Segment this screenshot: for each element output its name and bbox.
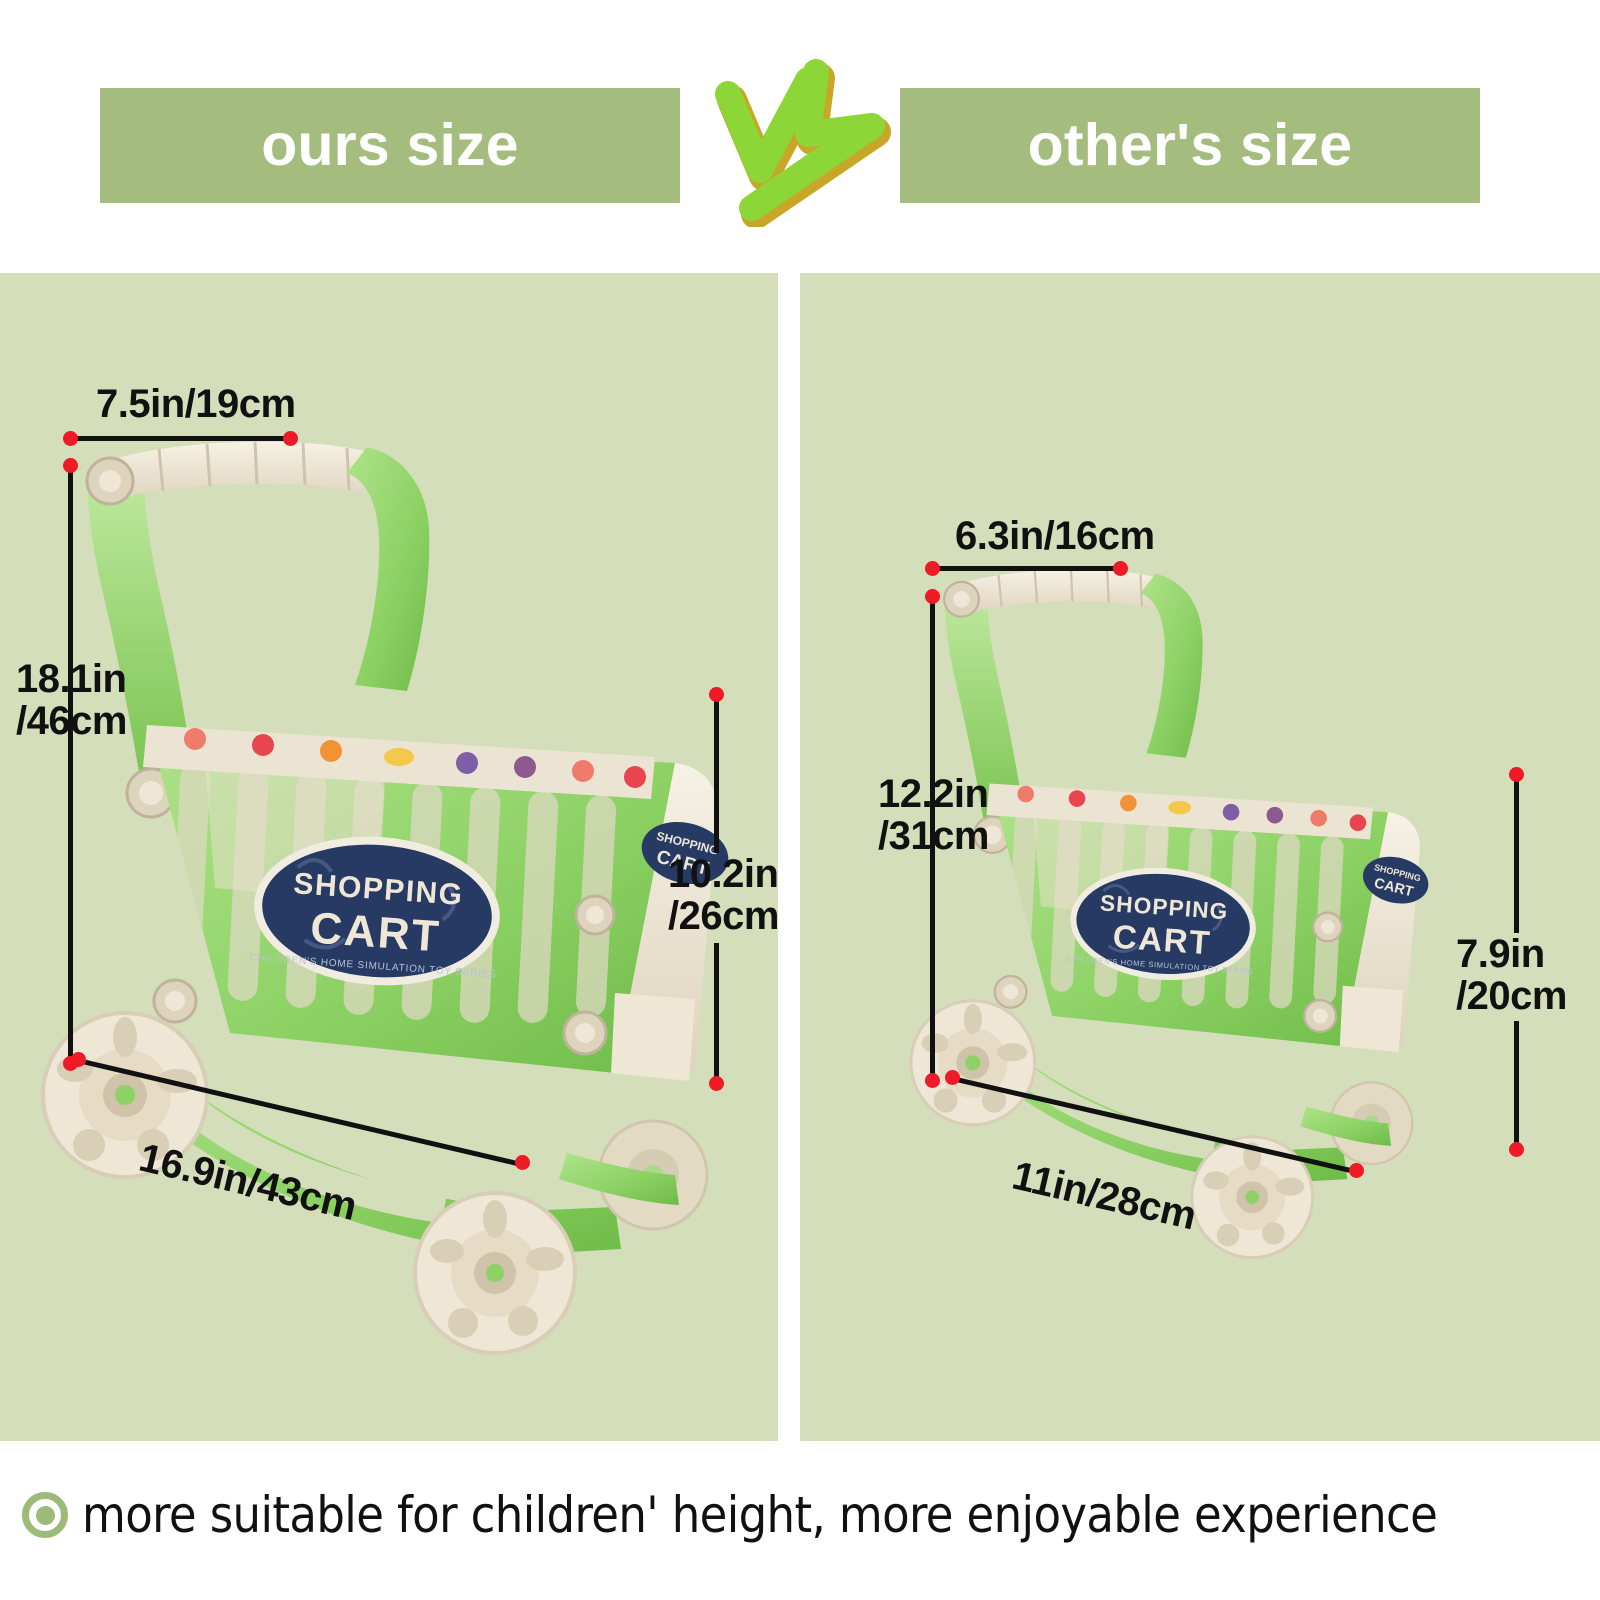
dim-dot [71,1052,86,1067]
dim-dot [63,458,78,473]
dim-dot [1113,561,1128,576]
dim-label-height-others: 12.2in /31cm [878,773,989,858]
vs-checkmark-icon [690,52,910,227]
dim-label-height-ours: 18.1in /46cm [16,658,127,743]
wheel-front [415,1193,575,1353]
dim-dot [709,1076,724,1091]
caption-row: more suitable for children' height, more… [22,1470,1582,1560]
dim-label-depth-others: 7.9in /20cm [1456,933,1567,1018]
dim-dot [709,687,724,702]
dim-label-depth-ours: 10.2in /26cm [668,853,778,938]
dim-dot [925,589,940,604]
dim-dot [283,431,298,446]
dim-line-width-top-others [932,566,1120,571]
dim-dot [515,1155,530,1170]
svg-text:CART: CART [1112,919,1213,963]
dim-line-width-top-ours [70,436,290,441]
dim-line-depth-ours-lower [714,943,719,1083]
bullet-ring-icon [22,1492,68,1538]
shopping-cart-illustration-ours: SHOPPING CART CHILDREN'S HOME SIMULATION… [55,433,755,1433]
dim-label-width-top-others: 6.3in/16cm [955,515,1155,557]
dim-dot [945,1070,960,1085]
dim-dot [925,561,940,576]
dim-dot [63,431,78,446]
banner-ours-size: ours size [100,88,680,203]
svg-text:CART: CART [309,903,442,961]
dim-dot [1509,1142,1524,1157]
dim-line-depth-others [1514,773,1519,933]
dim-label-width-top-ours: 7.5in/19cm [96,383,296,425]
panel-others: SHOPPING CART CHILDREN'S HOME SIMULATION… [800,273,1600,1441]
dim-dot [1509,767,1524,782]
dim-line-height-ours [68,463,73,1063]
panel-ours: SHOPPING CART CHILDREN'S HOME SIMULATION… [0,273,778,1441]
banner-others-size: other's size [900,88,1480,203]
caption-text: more suitable for children' height, more… [82,1486,1437,1544]
dim-line-depth-ours [714,693,719,853]
dim-line-depth-others-lower [1514,1021,1519,1149]
banner-ours-size-label: ours size [261,116,519,175]
banner-others-size-label: other's size [1028,116,1353,175]
dim-dot [1349,1163,1364,1178]
dim-dot [925,1073,940,1088]
